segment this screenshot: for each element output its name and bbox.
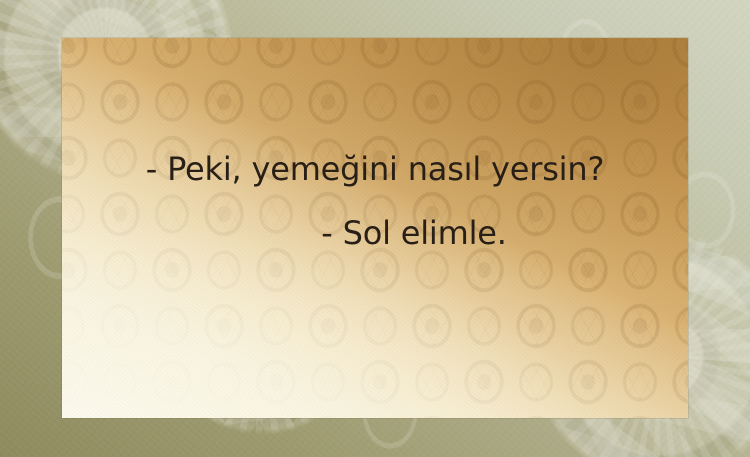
quote-card: - Peki, yemeğini nasıl yersin? - Sol eli… xyxy=(62,38,688,418)
quote-text-block: - Peki, yemeğini nasıl yersin? - Sol eli… xyxy=(62,153,688,250)
quote-line-answer: - Sol elimle. xyxy=(62,217,688,251)
screenshot-canvas: - Peki, yemeğini nasıl yersin? - Sol eli… xyxy=(0,0,750,457)
quote-line-question: - Peki, yemeğini nasıl yersin? xyxy=(62,153,688,187)
